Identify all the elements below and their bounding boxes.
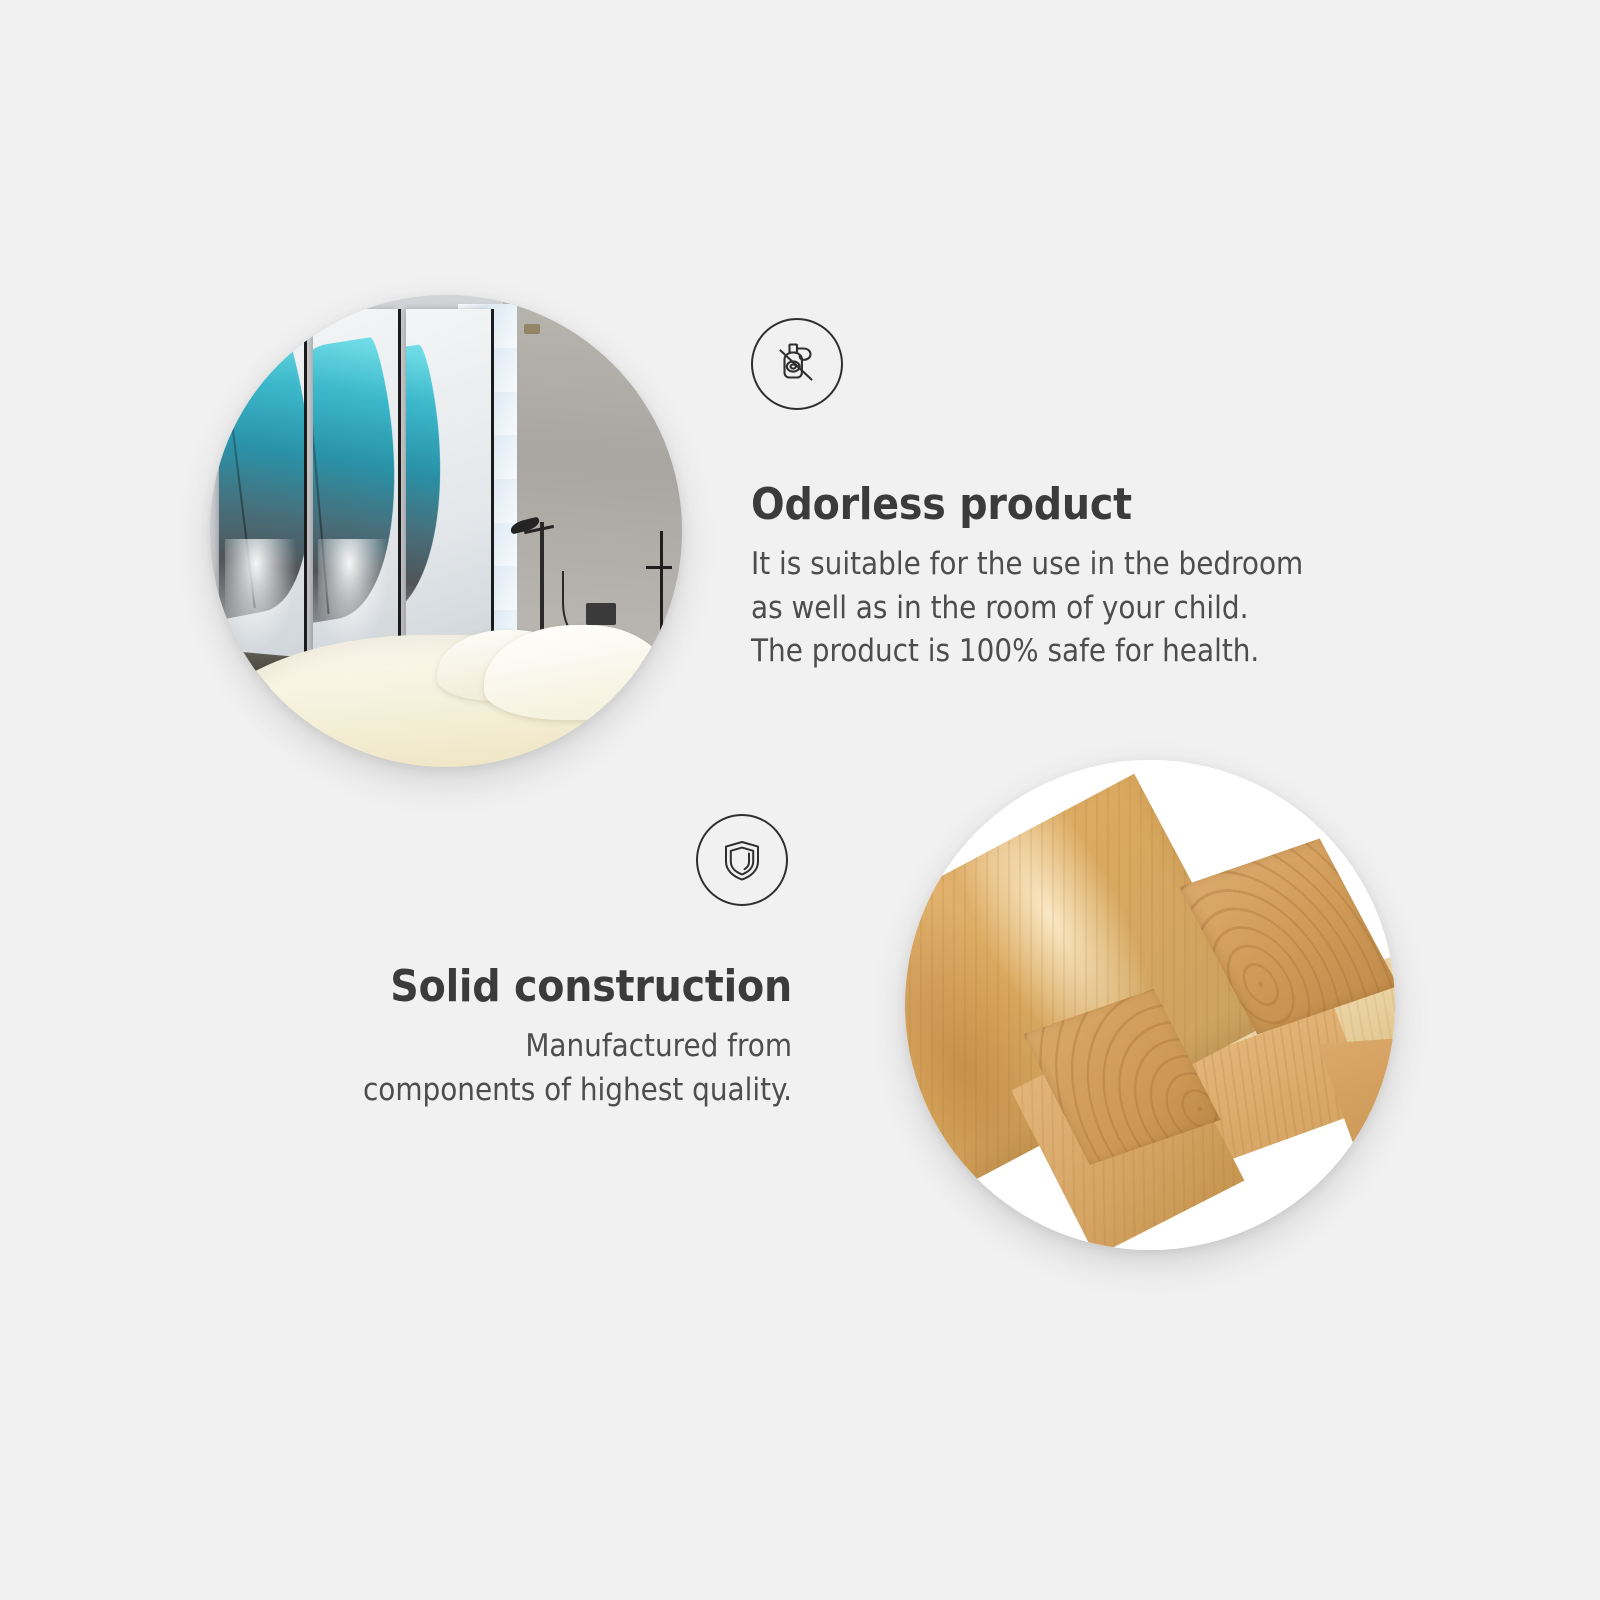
feather-triptych-panels [219, 309, 502, 668]
art-panel [219, 309, 304, 668]
feature-title: Odorless product [751, 480, 1431, 529]
description-line: It is suitable for the use in the bedroo… [751, 543, 1431, 586]
art-panel [313, 309, 398, 668]
bedroom-scene-illustration [210, 295, 682, 767]
feature-odorless-text: Odorless product It is suitable for the … [751, 480, 1431, 673]
feature-description: It is suitable for the use in the bedroo… [751, 543, 1431, 673]
feather-shape [406, 344, 464, 626]
feature-solid-construction-text: Solid construction Manufactured from com… [180, 962, 792, 1112]
no-perfume-icon [751, 318, 843, 410]
second-lamp-pole [660, 531, 663, 644]
shield-glyph [717, 835, 767, 885]
second-lamp-arm [646, 566, 672, 569]
wooden-beams-illustration [905, 760, 1395, 1250]
feature-description: Manufactured from components of highest … [180, 1025, 792, 1112]
no-perfume-glyph [770, 337, 824, 391]
shield-icon [696, 814, 788, 906]
infographic-canvas: Odorless product It is suitable for the … [0, 0, 1600, 1600]
art-panel [406, 309, 491, 668]
description-line: components of highest quality. [180, 1069, 792, 1112]
feather-down [225, 539, 303, 661]
wooden-beams-photo [905, 760, 1395, 1250]
description-line: as well as in the room of your child. [751, 587, 1431, 630]
description-line: The product is 100% safe for health. [751, 630, 1431, 673]
description-line: Manufactured from [180, 1025, 792, 1068]
feature-title: Solid construction [180, 962, 792, 1011]
bedroom-feather-wall-art-photo [210, 295, 682, 767]
